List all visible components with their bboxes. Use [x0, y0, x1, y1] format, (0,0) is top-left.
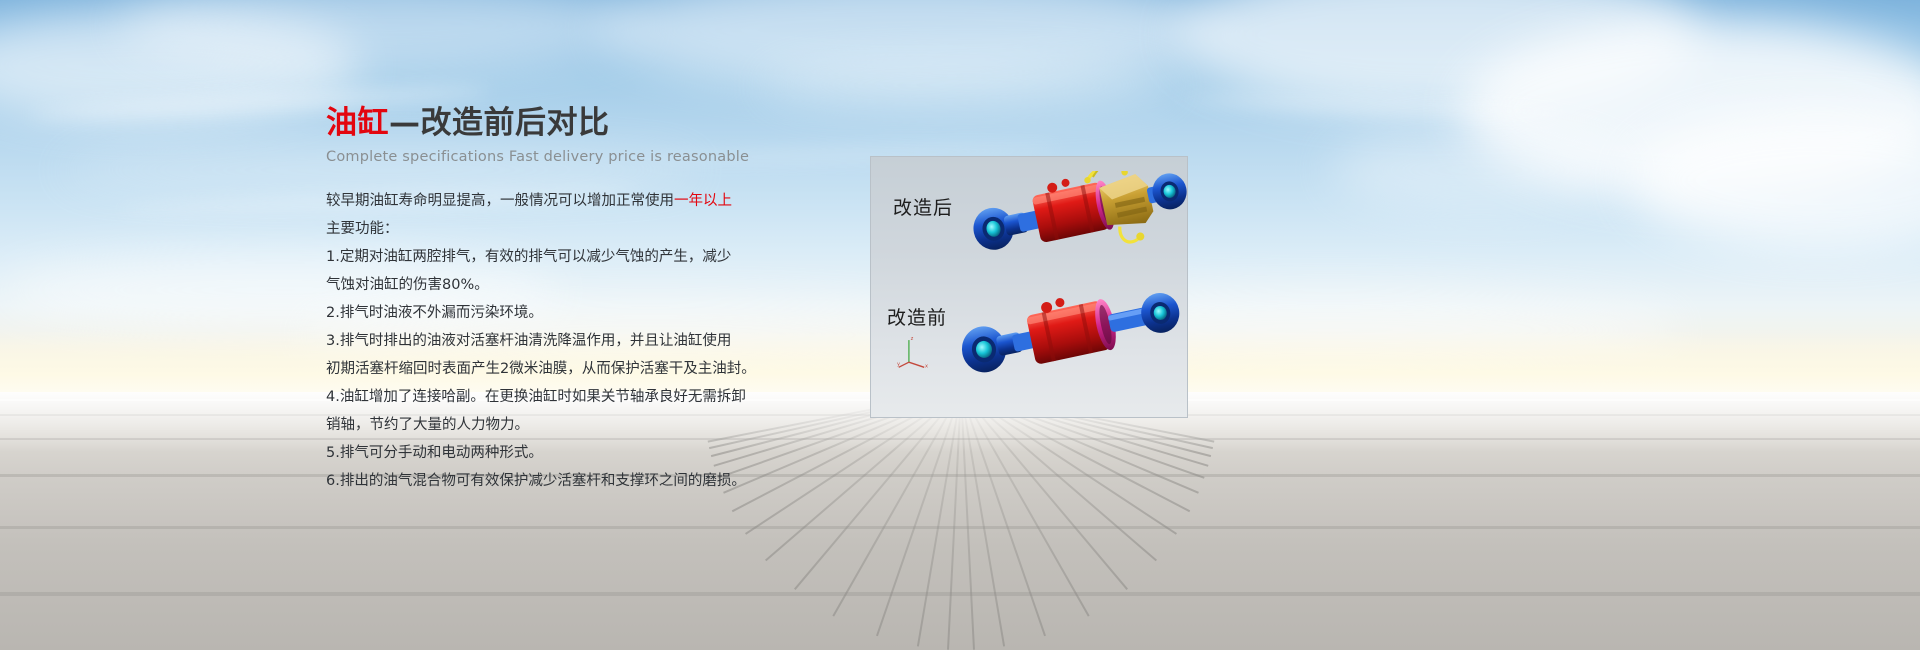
feature-line: 主要功能： [326, 215, 746, 243]
label-before-modification: 改造前 [887, 303, 947, 330]
feature-line: 6.排出的油气混合物可有效保护减少活塞杆和支撑环之间的磨损。 [326, 467, 746, 495]
cloud-shape [1330, 130, 1630, 210]
feature-line: 3.排气时排出的油液对活塞杆油清洗降温作用，并且让油缸使用 [326, 327, 746, 355]
feature-line: 5.排气可分手动和电动两种形式。 [326, 439, 746, 467]
feature-line: 气蚀对油缸的伤害80%。 [326, 271, 746, 299]
feature-line: 1.定期对油缸两腔排气，有效的排气可以减少气蚀的产生，减少 [326, 243, 746, 271]
feature-line: 较早期油缸寿命明显提高，一般情况可以增加正常使用一年以上 [326, 187, 746, 215]
feature-list: 较早期油缸寿命明显提高，一般情况可以增加正常使用一年以上主要功能：1.定期对油缸… [326, 187, 746, 495]
feature-line: 2.排气时油液不外漏而污染环境。 [326, 299, 746, 327]
label-after-modification: 改造后 [893, 193, 953, 220]
page-subtitle: Complete specifications Fast delivery pr… [326, 149, 746, 165]
feature-line-accent: 一年以上 [674, 193, 732, 209]
page-title-accent: 油缸 [326, 105, 389, 141]
banner-content: 油缸—改造前后对比 Complete specifications Fast d… [326, 104, 746, 495]
cylinder-render-before [957, 285, 1187, 403]
cloud-shape [760, 60, 1180, 110]
cad-axis-icon: z x y [897, 335, 931, 369]
feature-line: 销轴，节约了大量的人力物力。 [326, 411, 746, 439]
svg-text:z: z [911, 336, 914, 342]
feature-line: 4.油缸增加了连接哈副。在更换油缸时如果关节轴承良好无需拆卸 [326, 383, 746, 411]
pavement-background [0, 392, 1920, 650]
feature-line: 初期活塞杆缩回时表面产生2微米油膜，从而保护活塞干及主油封。 [326, 355, 746, 383]
cylinder-render-after [969, 171, 1188, 283]
svg-text:x: x [925, 363, 928, 369]
hero-banner: 油缸—改造前后对比 Complete specifications Fast d… [0, 0, 1920, 650]
svg-text:y: y [897, 362, 900, 368]
page-title-rest: —改造前后对比 [389, 105, 610, 141]
page-title: 油缸—改造前后对比 [326, 104, 746, 143]
product-comparison-panel: 改造后 改造前 z x y [870, 156, 1188, 418]
